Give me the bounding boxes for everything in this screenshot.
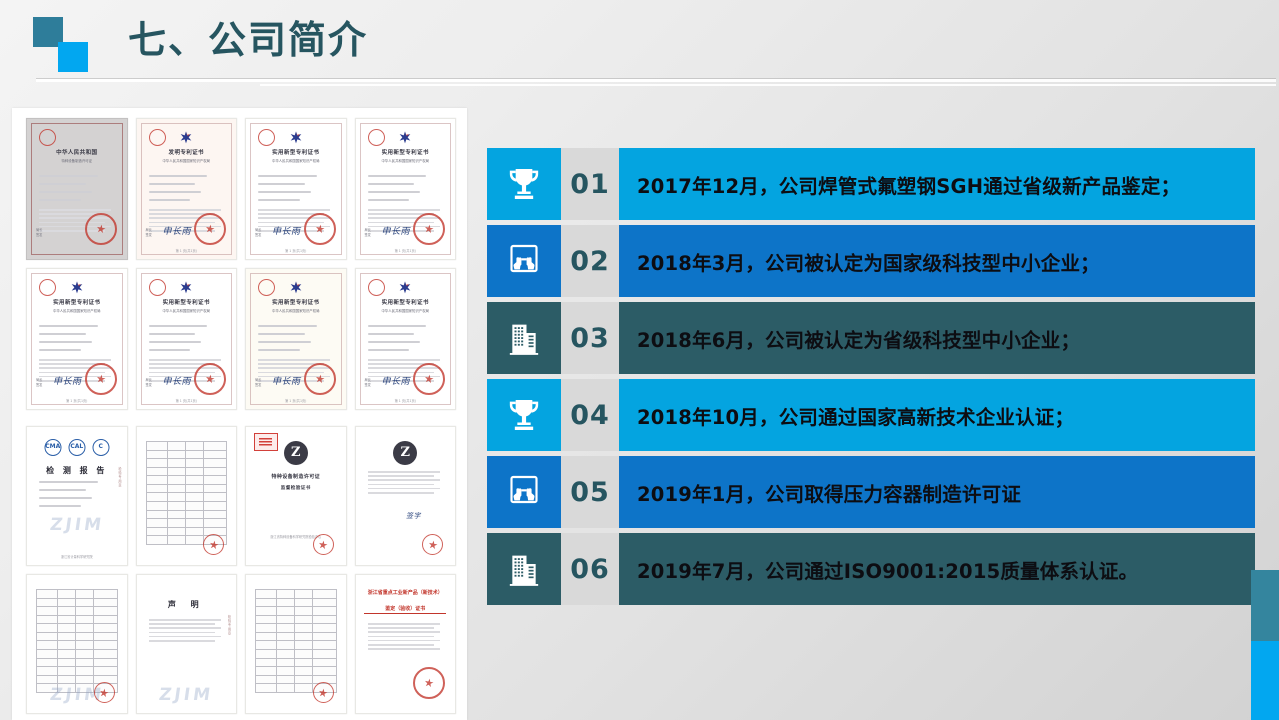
watermark: ZJIM bbox=[158, 685, 215, 705]
certificate-signature: 申长雨 bbox=[272, 224, 301, 237]
red-stamp-icon bbox=[254, 433, 278, 451]
accent-bar-cyan bbox=[1251, 641, 1279, 720]
report-thumbnail: Z签字 bbox=[355, 426, 457, 566]
certificate-thumbnail: 实用新型专利证书中华人民共和国国家知识产权局局长签发申长雨第 1 页(共1页) bbox=[355, 268, 457, 410]
certificate-footer: 第 1 页(共1页) bbox=[66, 398, 87, 403]
z-logo-icon: Z bbox=[393, 441, 417, 465]
milestone-row[interactable]: 062019年7月，公司通过ISO9001:2015质量体系认证。 bbox=[487, 533, 1255, 605]
report-thumbnail: 声 明ZJIM检验专用章 bbox=[136, 574, 238, 714]
certificate-thumbnail: 实用新型专利证书中华人民共和国国家知识产权局局长签发申长雨第 1 页(共1页) bbox=[355, 118, 457, 260]
trophy-icon bbox=[487, 148, 561, 220]
report-thumbnail bbox=[245, 574, 347, 714]
red-seal-icon bbox=[85, 363, 117, 395]
certificate-title: 实用新型专利证书 bbox=[151, 299, 221, 307]
report-footer: 浙江省计量科学研究院 bbox=[61, 554, 93, 559]
certificate-signature: 申长雨 bbox=[53, 374, 82, 387]
report-thumbnail: 浙江省重点工业新产品（新技术）鉴定（验收）证书 bbox=[355, 574, 457, 714]
report-signature: 签字 bbox=[406, 511, 421, 521]
report-thumbnail: ZJIM bbox=[26, 574, 128, 714]
data-table bbox=[146, 441, 228, 545]
building-icon bbox=[487, 533, 561, 605]
certificate-sign-label: 局长签发 bbox=[146, 228, 152, 238]
certificate-sign-label: 局长签发 bbox=[36, 378, 42, 388]
certificate-signature: 申长雨 bbox=[382, 224, 411, 237]
patent-emblem-icon bbox=[397, 130, 413, 146]
certificate-thumbnail: 实用新型专利证书中华人民共和国国家知识产权局局长签发申长雨第 1 页(共1页) bbox=[245, 268, 347, 410]
milestone-row[interactable]: 022018年3月，公司被认定为国家级科技型中小企业； bbox=[487, 225, 1255, 297]
report-subtitle: 监督检验证书 bbox=[261, 485, 331, 493]
milestone-number: 04 bbox=[561, 379, 619, 451]
report-title: 声 明 bbox=[168, 599, 205, 610]
red-seal-icon bbox=[304, 213, 336, 245]
certificate-fields bbox=[149, 175, 225, 207]
building-icon bbox=[487, 302, 561, 374]
certificate-subtitle: 中华人民共和国国家知识产权局 bbox=[363, 159, 447, 164]
certificate-signature: 申长雨 bbox=[382, 374, 411, 387]
header-divider-second bbox=[260, 84, 1276, 86]
header-divider bbox=[36, 79, 1276, 82]
watermark: ZJIM bbox=[48, 515, 105, 535]
certificate-sign-label: 局长签发 bbox=[365, 228, 371, 238]
red-seal-icon bbox=[313, 534, 334, 555]
patent-emblem-icon bbox=[288, 280, 304, 296]
certificate-subtitle: 中华人民共和国国家知识产权局 bbox=[144, 159, 228, 164]
milestone-text: 2019年7月，公司通过ISO9001:2015质量体系认证。 bbox=[619, 533, 1255, 605]
milestone-row[interactable]: 012017年12月，公司焊管式氟塑钢SGH通过省级新产品鉴定； bbox=[487, 148, 1255, 220]
certificate-footer: 第 1 页(共1页) bbox=[176, 248, 197, 253]
z-logo-icon: Z bbox=[284, 441, 308, 465]
red-seal-icon bbox=[194, 363, 226, 395]
patent-emblem-icon bbox=[178, 280, 194, 296]
red-seal-icon bbox=[413, 213, 445, 245]
slide-canvas: 七、公司简介 中华人民共和国特种设备制造许可证局长签发发明专利证书中华人民共和国… bbox=[0, 0, 1279, 720]
certificate-signature: 申长雨 bbox=[272, 374, 301, 387]
report-thumbnail: Z特种设备制造许可证监督检验证书浙江省特种设备科学研究院检验中心 bbox=[245, 426, 347, 566]
patent-certificate-grid: 中华人民共和国特种设备制造许可证局长签发发明专利证书中华人民共和国国家知识产权局… bbox=[26, 118, 456, 410]
red-seal-icon bbox=[304, 363, 336, 395]
side-stamp-text: 检验专用章 bbox=[227, 615, 232, 636]
milestone-text: 2018年6月，公司被认定为省级科技型中小企业； bbox=[619, 302, 1255, 374]
red-seal-icon bbox=[94, 682, 115, 703]
milestone-text: 2019年1月，公司取得压力容器制造许可证 bbox=[619, 456, 1255, 528]
certificate-footer: 第 1 页(共1页) bbox=[395, 398, 416, 403]
patent-emblem-icon bbox=[288, 130, 304, 146]
page-title: 七、公司简介 bbox=[128, 12, 368, 68]
red-stamp-corner-icon bbox=[149, 279, 166, 296]
certificate-thumbnail: 中华人民共和国特种设备制造许可证局长签发 bbox=[26, 118, 128, 260]
certificate-title: 实用新型专利证书 bbox=[261, 149, 331, 157]
accreditation-logos: CMACALC bbox=[44, 439, 109, 456]
report-title: 特种设备制造许可证 bbox=[261, 473, 331, 481]
red-stamp-corner-icon bbox=[368, 279, 385, 296]
certificate-fields bbox=[258, 175, 334, 207]
certificate-thumbnail: 实用新型专利证书中华人民共和国国家知识产权局局长签发申长雨第 1 页(共1页) bbox=[136, 268, 238, 410]
trophy-icon bbox=[487, 379, 561, 451]
red-seal-icon bbox=[413, 363, 445, 395]
certificate-fields bbox=[368, 175, 444, 207]
certificate-title: 实用新型专利证书 bbox=[42, 299, 112, 307]
certificate-subtitle: 特种设备制造许可证 bbox=[35, 159, 119, 164]
milestone-row[interactable]: 032018年6月，公司被认定为省级科技型中小企业； bbox=[487, 302, 1255, 374]
certificate-fields bbox=[39, 175, 115, 207]
red-seal-icon bbox=[203, 534, 224, 555]
tablet-hands-icon bbox=[487, 456, 561, 528]
certificate-footer: 第 1 页(共1页) bbox=[285, 398, 306, 403]
red-seal-icon bbox=[85, 213, 117, 245]
logo-square-bright-icon bbox=[58, 42, 88, 72]
red-stamp-corner-icon bbox=[258, 279, 275, 296]
milestone-number: 06 bbox=[561, 533, 619, 605]
slide-header: 七、公司简介 bbox=[0, 0, 1279, 88]
patent-emblem-icon bbox=[69, 280, 85, 296]
certificate-subtitle: 中华人民共和国国家知识产权局 bbox=[363, 309, 447, 314]
patent-emblem-icon bbox=[178, 130, 194, 146]
certificate-sign-label: 局长签发 bbox=[36, 228, 42, 238]
report-thumbnail bbox=[136, 426, 238, 566]
certificate-sign-label: 局长签发 bbox=[255, 228, 261, 238]
certificate-title: 实用新型专利证书 bbox=[370, 299, 440, 307]
red-stamp-corner-icon bbox=[149, 129, 166, 146]
certificate-title: 实用新型专利证书 bbox=[370, 149, 440, 157]
certificate-title: 中华人民共和国 bbox=[42, 149, 112, 157]
certificate-fields bbox=[149, 325, 225, 357]
certificate-signature: 申长雨 bbox=[163, 374, 192, 387]
red-seal-icon bbox=[313, 682, 334, 703]
certificate-subtitle: 中华人民共和国国家知识产权局 bbox=[144, 309, 228, 314]
report-title: 浙江省重点工业新产品（新技术） bbox=[361, 589, 449, 598]
certificate-thumbnail: 实用新型专利证书中华人民共和国国家知识产权局局长签发申长雨第 1 页(共1页) bbox=[26, 268, 128, 410]
report-body-text bbox=[368, 471, 444, 496]
side-stamp-text: 检验专用章 bbox=[118, 467, 123, 488]
report-certificate-grid: CMACALC检 测 报 告ZJIM浙江省计量科学研究院检验专用章Z特种设备制造… bbox=[26, 426, 456, 714]
certificate-sign-label: 局长签发 bbox=[365, 378, 371, 388]
data-table bbox=[36, 589, 118, 693]
milestone-number: 01 bbox=[561, 148, 619, 220]
tablet-hands-icon bbox=[487, 225, 561, 297]
certificate-subtitle: 中华人民共和国国家知识产权局 bbox=[254, 159, 338, 164]
certificate-thumbnail: 实用新型专利证书中华人民共和国国家知识产权局局长签发申长雨第 1 页(共1页) bbox=[245, 118, 347, 260]
red-seal-icon bbox=[422, 534, 443, 555]
red-seal-icon bbox=[413, 667, 445, 699]
red-stamp-corner-icon bbox=[39, 129, 56, 146]
certificate-sign-label: 局长签发 bbox=[255, 378, 261, 388]
accent-bar-teal bbox=[1251, 570, 1279, 641]
certificate-footer: 第 1 页(共1页) bbox=[285, 248, 306, 253]
certificate-thumbnail: 发明专利证书中华人民共和国国家知识产权局局长签发申长雨第 1 页(共1页) bbox=[136, 118, 238, 260]
report-title: 检 测 报 告 bbox=[46, 465, 107, 476]
milestone-text: 2018年3月，公司被认定为国家级科技型中小企业； bbox=[619, 225, 1255, 297]
milestone-text: 2018年10月，公司通过国家高新技术企业认证； bbox=[619, 379, 1255, 451]
red-stamp-corner-icon bbox=[39, 279, 56, 296]
patent-emblem-icon bbox=[397, 280, 413, 296]
certificate-fields bbox=[39, 325, 115, 357]
certificate-sign-label: 局长签发 bbox=[146, 378, 152, 388]
milestone-number: 02 bbox=[561, 225, 619, 297]
certificate-footer: 第 1 页(共1页) bbox=[395, 248, 416, 253]
certificate-fields bbox=[368, 325, 444, 357]
red-seal-icon bbox=[194, 213, 226, 245]
certificate-subtitle: 中华人民共和国国家知识产权局 bbox=[35, 309, 119, 314]
certificate-fields bbox=[258, 325, 334, 357]
certificate-board: 中华人民共和国特种设备制造许可证局长签发发明专利证书中华人民共和国国家知识产权局… bbox=[12, 108, 467, 720]
milestone-row[interactable]: 052019年1月，公司取得压力容器制造许可证 bbox=[487, 456, 1255, 528]
certificate-subtitle: 中华人民共和国国家知识产权局 bbox=[254, 309, 338, 314]
milestone-number: 05 bbox=[561, 456, 619, 528]
report-body-text bbox=[368, 623, 444, 652]
certificate-title: 实用新型专利证书 bbox=[261, 299, 331, 307]
red-stamp-corner-icon bbox=[368, 129, 385, 146]
report-body-text bbox=[149, 619, 225, 644]
report-thumbnail: CMACALC检 测 报 告ZJIM浙江省计量科学研究院检验专用章 bbox=[26, 426, 128, 566]
report-fields bbox=[39, 481, 115, 513]
milestone-row[interactable]: 042018年10月，公司通过国家高新技术企业认证； bbox=[487, 379, 1255, 451]
milestone-list: 012017年12月，公司焊管式氟塑钢SGH通过省级新产品鉴定；022018年3… bbox=[487, 148, 1255, 610]
certificate-signature: 申长雨 bbox=[163, 224, 192, 237]
certificate-title: 发明专利证书 bbox=[151, 149, 221, 157]
milestone-number: 03 bbox=[561, 302, 619, 374]
data-table bbox=[255, 589, 337, 693]
certificate-footer: 第 1 页(共1页) bbox=[176, 398, 197, 403]
red-stamp-corner-icon bbox=[258, 129, 275, 146]
divider bbox=[364, 613, 446, 614]
milestone-text: 2017年12月，公司焊管式氟塑钢SGH通过省级新产品鉴定； bbox=[619, 148, 1255, 220]
